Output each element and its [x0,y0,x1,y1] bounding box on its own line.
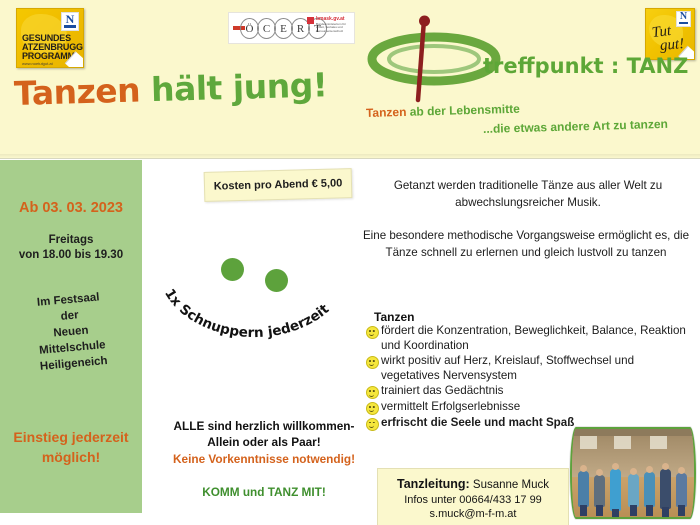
contact-role-label: Tanzleitung: [397,477,470,491]
venue-block: Im Festsaal der Neuen Mittelschule Heili… [0,286,145,378]
photo-ceiling [572,429,694,436]
list-item-label: erfrischt die Seele und macht Spaß [381,416,574,429]
contact-email: s.muck@m-f-m.at [378,508,568,520]
list-item-label: vermittelt Erfolgserlebnisse [381,400,520,413]
photo-window [614,436,631,449]
dancing-group-photo [570,427,696,519]
photo-dancer [628,474,639,507]
contact-box: Tanzleitung: Susanne Muck Infos unter 00… [377,468,569,525]
dancer-legs [646,505,653,516]
dancer-head [580,465,587,472]
dancer-legs [678,505,685,516]
info-sidebar: Ab 03. 03. 2023 Freitags von 18.00 bis 1… [0,160,142,513]
dancer-legs [662,507,669,518]
badge-letter: N [62,13,78,25]
dancer-head [662,463,669,470]
dancer-head [678,467,685,474]
list-item: wirkt positiv auf Herz, Kreislauf, Stoff… [366,354,686,383]
logo-url: www.noetutgut.at [22,61,53,66]
contact-name: Susanne Muck [473,479,549,491]
contact-role-row: Tanzleitung: Susanne Muck [378,477,568,491]
entry-note: Einstieg jederzeit möglich! [0,427,142,467]
poster-canvas: N GESUNDES ATZENBRUGG PROGRAMM www.noetu… [0,0,700,525]
photo-dancer [578,471,589,507]
page-title-green: hält jung! [150,65,327,109]
welcome-line-1: ALLE sind herzlich willkommen- [152,418,376,434]
treffpunkt-tanz-wordmark: treffpunkt : TANZ [483,54,688,78]
intro-paragraph-1: Getanzt werden traditionelle Tänze aus a… [372,178,684,211]
smiley-bullet-icon [366,326,379,339]
ministry-square-icon [307,17,314,24]
photo-dancer [644,472,655,507]
dancer-legs [612,509,619,519]
smiley-bullet-icon [366,356,379,369]
schedule-time: von 18.00 bis 19.30 [0,248,142,263]
oecert-logo: Ö C E R T bmask.gv.at Bundesministerium … [228,12,355,44]
benefits-list: fördert die Konzentration, Beweglichkeit… [366,324,686,431]
page-title-orange: Tanzen [13,70,151,113]
list-item: trainiert das Gedächtnis [366,384,686,399]
arc-text-content: 1x Schnuppern jederzeit möglich! [155,243,333,341]
entry-note-line-2: möglich! [0,447,142,467]
smiley-mouth-arc-text: 1x Schnuppern jederzeit möglich! [155,243,360,358]
smiley-graphic: 1x Schnuppern jederzeit möglich! [155,243,360,358]
list-item-label: fördert die Konzentration, Beweglichkeit… [381,324,686,352]
brand-tagline-line-1: Tanzen ab der Lebensmitte [366,102,520,120]
treffpunkt-tanz-logo: treffpunkt : TANZ [366,14,696,106]
schedule-day: Freitags [0,233,142,248]
welcome-block: ALLE sind herzlich willkommen- Allein od… [152,418,376,500]
ministry-subtitle: Bundesministerium für Arbeit, Soziales u… [316,23,350,33]
welcome-line-3: Keine Vorkenntnisse notwendig! [152,451,376,467]
photo-dancer [676,473,687,507]
tagline-rest: ab der Lebensmitte [406,102,520,119]
intro-paragraph-2: Eine besondere methodische Vorgangsweise… [356,228,696,261]
photo-dancer [660,469,671,509]
dancer-head [630,468,637,475]
list-item: fördert die Konzentration, Beweglichkeit… [366,324,686,353]
dancer-head [612,463,619,470]
dancer-legs [596,505,603,516]
dancer-head [646,466,653,473]
schedule-block: Freitags von 18.00 bis 19.30 [0,233,142,263]
list-item-label: trainiert das Gedächtnis [381,384,503,397]
smiley-bullet-icon [366,402,379,415]
contact-phone: Infos unter 00664/433 17 99 [378,494,568,506]
cost-box: Kosten pro Abend € 5,00 [204,168,353,202]
entry-note-line-1: Einstieg jederzeit [0,427,142,447]
photo-window [650,436,667,449]
start-date: Ab 03. 03. 2023 [0,200,142,216]
welcome-line-2: Allein oder als Paar! [152,434,376,450]
page-title: Tanzen hält jung! [13,65,327,113]
ministry-logo: bmask.gv.at Bundesministerium für Arbeit… [307,16,351,39]
dancer-head [596,469,603,476]
benefits-heading: Tanzen [374,310,414,324]
photo-dancer [610,469,621,511]
list-item-label: wirkt positiv auf Herz, Kreislauf, Stoff… [381,354,634,382]
lower-austria-badge-icon: N [61,12,79,31]
tagline-strong: Tanzen [366,105,407,120]
list-item: vermittelt Erfolgserlebnisse [366,400,686,415]
svg-text:1x Schnuppern jederzeit möglic: 1x Schnuppern jederzeit möglich! [155,243,333,341]
header-band: N GESUNDES ATZENBRUGG PROGRAMM www.noetu… [0,0,700,159]
brand-tagline-line-2: ...die etwas andere Art zu tanzen [483,117,668,136]
dancer-legs [580,505,587,516]
cost-label: Kosten pro Abend € 5,00 [205,169,352,201]
photo-window [580,436,597,449]
welcome-call-to-action: KOMM und TANZ MIT! [152,484,376,500]
dancer-legs [630,505,637,516]
smiley-bullet-icon [366,386,379,399]
photo-dancer [594,475,605,507]
gesundes-atzenbrugg-logo: N GESUNDES ATZENBRUGG PROGRAMM www.noetu… [16,8,84,68]
